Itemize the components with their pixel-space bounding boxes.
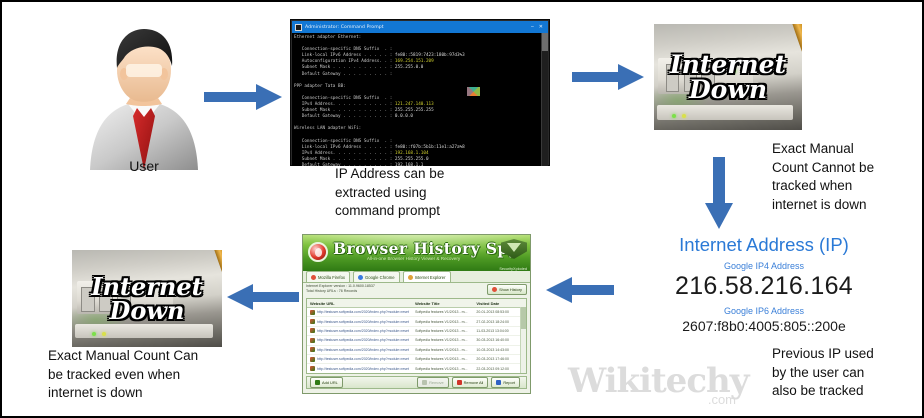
cell-url-wrap: http://testuser.softpedia.com/2020/index… xyxy=(307,319,412,324)
command-prompt-output: Ethernet adapter Ethernet: Connection-sp… xyxy=(292,33,548,166)
cmd-line-value: 169.254.151.209 xyxy=(395,59,434,64)
button-label: Remove All xyxy=(464,380,484,385)
tab-internet-explorer[interactable]: Internet Explorer xyxy=(403,271,451,282)
arrow-down-to-ip xyxy=(705,157,733,229)
ip4-value: 216.58.216.164 xyxy=(614,272,914,301)
cmd-line-value: 255.255.0.0 xyxy=(395,65,423,70)
ip-address-panel: Internet Address (IP) Google IP4 Address… xyxy=(614,234,914,339)
bhs-tab-bar[interactable]: Mozilla FirefoxGoogle ChromeInternet Exp… xyxy=(303,271,530,283)
button-icon xyxy=(457,380,462,385)
remove-button: Remove xyxy=(417,377,449,388)
cell-title: Softpedia features V1/2/013 - m... xyxy=(412,367,473,371)
bhs-info-bar: Internet Explorer version : 11.0.9600.18… xyxy=(303,283,530,296)
windows-flag-icon xyxy=(467,87,480,96)
cell-url-wrap: http://testuser.softpedia.com/2020/index… xyxy=(307,328,412,333)
favicon-icon xyxy=(310,328,315,333)
button-label: Report xyxy=(503,380,515,385)
cell-date: 30-03-2013 16:40:00 xyxy=(473,338,526,342)
note-can-track: Exact Manual Count Can be tracked even w… xyxy=(48,347,268,403)
cell-title: Softpedia features V1/2/013 - m... xyxy=(412,329,473,333)
command-prompt-title: Administrator: Command Prompt xyxy=(305,25,384,30)
router-strip xyxy=(657,105,793,121)
browser-icon xyxy=(358,275,363,280)
favicon-icon xyxy=(310,319,315,324)
show-history-label: Show History xyxy=(499,287,522,292)
note-previous-ip: Previous IP used by the user can also be… xyxy=(772,345,924,401)
arrow-user-to-cmd xyxy=(204,84,282,110)
diagram-canvas: User Administrator: Command Prompt – ✕ E… xyxy=(0,0,924,418)
report-button[interactable]: Report xyxy=(491,377,520,388)
arrow-history-to-internet-down xyxy=(227,284,299,310)
cmd-line-value: fe80::5819:7423:180b:97d3%3 xyxy=(395,53,465,58)
cell-url-wrap: http://testuser.softpedia.com/2020/index… xyxy=(307,310,412,315)
note-can-track-text: Exact Manual Count Can be tracked even w… xyxy=(48,348,198,400)
cell-url: http://testuser.softpedia.com/2020/index… xyxy=(317,357,409,361)
bhs-subtitle: All-in-one Browser History Viewer & Reco… xyxy=(333,256,494,261)
note-previous-ip-text: Previous IP used by the user can also be… xyxy=(772,346,874,398)
internet-down-caption: Internet Down xyxy=(654,52,802,102)
console-icon xyxy=(295,24,302,31)
favicon-icon xyxy=(310,310,315,315)
table-row[interactable]: http://testuser.softpedia.com/2020/index… xyxy=(307,336,526,345)
cmd-line-value: fe80::f07b:5b1b:11e1:a27a%8 xyxy=(395,145,465,150)
internet-down-image-bottom: Internet Down xyxy=(72,250,222,347)
cmd-line-value: 121.247.140.113 xyxy=(395,102,434,107)
tab-label: Mozilla Firefox xyxy=(318,275,345,280)
cell-url-wrap: http://testuser.softpedia.com/2020/index… xyxy=(307,357,412,362)
cell-title: Softpedia features V1/2/013 - m... xyxy=(412,320,473,324)
router-strip xyxy=(75,324,213,339)
cmd-line-value: 255.255.255.0 xyxy=(395,157,429,162)
ip6-label: Google IP6 Address xyxy=(614,306,914,316)
cell-url-wrap: http://testuser.softpedia.com/2020/index… xyxy=(307,366,412,371)
cmd-line-value: 192.168.1.104 xyxy=(395,151,429,156)
command-prompt-titlebar: Administrator: Command Prompt – ✕ xyxy=(292,21,548,33)
arrow-cmd-to-internet-down xyxy=(572,64,644,90)
table-row[interactable]: http://testuser.softpedia.com/2020/index… xyxy=(307,317,526,326)
history-table-body[interactable]: http://testuser.softpedia.com/2020/index… xyxy=(307,308,526,374)
cell-date: 20-01-2013 08:53:00 xyxy=(473,310,526,314)
close-icon[interactable]: ✕ xyxy=(539,25,543,30)
internet-down-line2: Down xyxy=(689,75,767,104)
cell-url: http://testuser.softpedia.com/2020/index… xyxy=(317,310,409,314)
bhs-brand: SecurityXploded xyxy=(499,267,527,271)
internet-down-line2: Down xyxy=(110,296,185,325)
user-avatar-icon xyxy=(80,20,208,170)
ip6-value: 2607:f8b0:4005:805::200e xyxy=(614,318,914,334)
command-prompt-scrollbar[interactable] xyxy=(541,33,548,166)
button-icon xyxy=(496,380,501,385)
cell-url: http://testuser.softpedia.com/2020/index… xyxy=(317,320,409,324)
column-header-title: Website Title xyxy=(412,301,473,306)
note-cannot-track-text: Exact Manual Count Cannot be tracked whe… xyxy=(772,141,874,212)
cell-title: Softpedia features V1/2/013 - m... xyxy=(412,348,473,352)
history-icon xyxy=(492,287,497,292)
browser-history-spy-window[interactable]: Browser History Spy All-in-one Browser H… xyxy=(302,234,531,394)
cell-url-wrap: http://testuser.softpedia.com/2020/index… xyxy=(307,347,412,352)
table-row[interactable]: http://testuser.softpedia.com/2020/index… xyxy=(307,308,526,317)
history-table-scrollbar[interactable] xyxy=(520,307,526,373)
command-prompt-window[interactable]: Administrator: Command Prompt – ✕ Ethern… xyxy=(291,20,549,165)
cell-url: http://testuser.softpedia.com/2020/index… xyxy=(317,338,409,342)
button-label: Remove xyxy=(429,380,444,385)
cell-url-wrap: http://testuser.softpedia.com/2020/index… xyxy=(307,338,412,343)
arrow-ip-to-history xyxy=(546,277,614,303)
internet-down-caption: Internet Down xyxy=(72,275,222,323)
wikitechy-watermark: Wikitechy .com xyxy=(568,364,748,412)
table-row[interactable]: http://testuser.softpedia.com/2020/index… xyxy=(307,364,526,373)
bhs-logo-icon xyxy=(308,242,328,262)
window-buttons[interactable]: – ✕ xyxy=(531,25,545,30)
tab-label: Google Chrome xyxy=(365,275,395,280)
ip4-label: Google IP4 Address xyxy=(614,261,914,271)
favicon-icon xyxy=(310,357,315,362)
minimize-icon[interactable]: – xyxy=(531,25,534,30)
note-command-prompt-text: IP Address can be extracted using comman… xyxy=(335,166,444,218)
user-label: User xyxy=(80,158,208,174)
column-header-date: Visited Date xyxy=(473,301,526,306)
tab-mozilla-firefox[interactable]: Mozilla Firefox xyxy=(306,271,350,282)
cell-url: http://testuser.softpedia.com/2020/index… xyxy=(317,367,409,371)
cell-date: 22-03-2013 09:12:00 xyxy=(473,367,526,371)
bhs-header: Browser History Spy All-in-one Browser H… xyxy=(303,235,530,271)
cell-url: http://testuser.softpedia.com/2020/index… xyxy=(317,348,409,352)
browser-icon xyxy=(408,275,413,280)
cell-title: Softpedia features V1/2/013 - m... xyxy=(412,310,473,314)
table-row[interactable]: http://testuser.softpedia.com/2020/index… xyxy=(307,327,526,336)
button-icon xyxy=(315,380,320,385)
tab-google-chrome[interactable]: Google Chrome xyxy=(353,271,400,282)
cell-date: 11-03-2013 13:04:00 xyxy=(473,329,526,333)
remove-all-button[interactable]: Remove All xyxy=(452,377,489,388)
cell-title: Softpedia features V1/2/013 - m... xyxy=(412,357,473,361)
browser-icon xyxy=(311,275,316,280)
cmd-line-value: 0.0.0.0 xyxy=(395,114,413,119)
cell-url: http://testuser.softpedia.com/2020/index… xyxy=(317,329,409,333)
note-cannot-track: Exact Manual Count Cannot be tracked whe… xyxy=(772,140,922,215)
ip-panel-title: Internet Address (IP) xyxy=(614,234,914,256)
cell-date: 10-03-2013 14:43:00 xyxy=(473,348,526,352)
show-history-button[interactable]: Show History xyxy=(487,284,527,295)
table-row[interactable]: http://testuser.softpedia.com/2020/index… xyxy=(307,346,526,355)
internet-down-image-top: Internet Down xyxy=(654,24,802,130)
button-label: Add URL xyxy=(322,380,338,385)
tab-label: Internet Explorer xyxy=(415,275,446,280)
cmd-line-value: 255.255.255.255 xyxy=(395,108,434,113)
favicon-icon xyxy=(310,366,315,371)
favicon-icon xyxy=(310,338,315,343)
bhs-footer-toolbar[interactable]: Add URLRemoveRemove AllReport xyxy=(306,376,527,389)
led-icon xyxy=(92,332,96,336)
note-command-prompt: IP Address can be extracted using comman… xyxy=(335,165,535,221)
add-url-button[interactable]: Add URL xyxy=(310,377,343,388)
cell-date: 27-02-2013 18:24:00 xyxy=(473,320,526,324)
cell-date: 20-03-2013 17:46:00 xyxy=(473,357,526,361)
history-table-header: Website URL Website Title Visited Date xyxy=(307,299,526,308)
command-prompt-lines: Ethernet adapter Ethernet: Connection-sp… xyxy=(294,35,548,166)
column-header-url: Website URL xyxy=(307,301,412,306)
table-row[interactable]: http://testuser.softpedia.com/2020/index… xyxy=(307,355,526,364)
history-table[interactable]: Website URL Website Title Visited Date h… xyxy=(306,298,527,374)
button-icon xyxy=(422,380,427,385)
cell-title: Softpedia features V1/2/013 - m... xyxy=(412,338,473,342)
favicon-icon xyxy=(310,347,315,352)
